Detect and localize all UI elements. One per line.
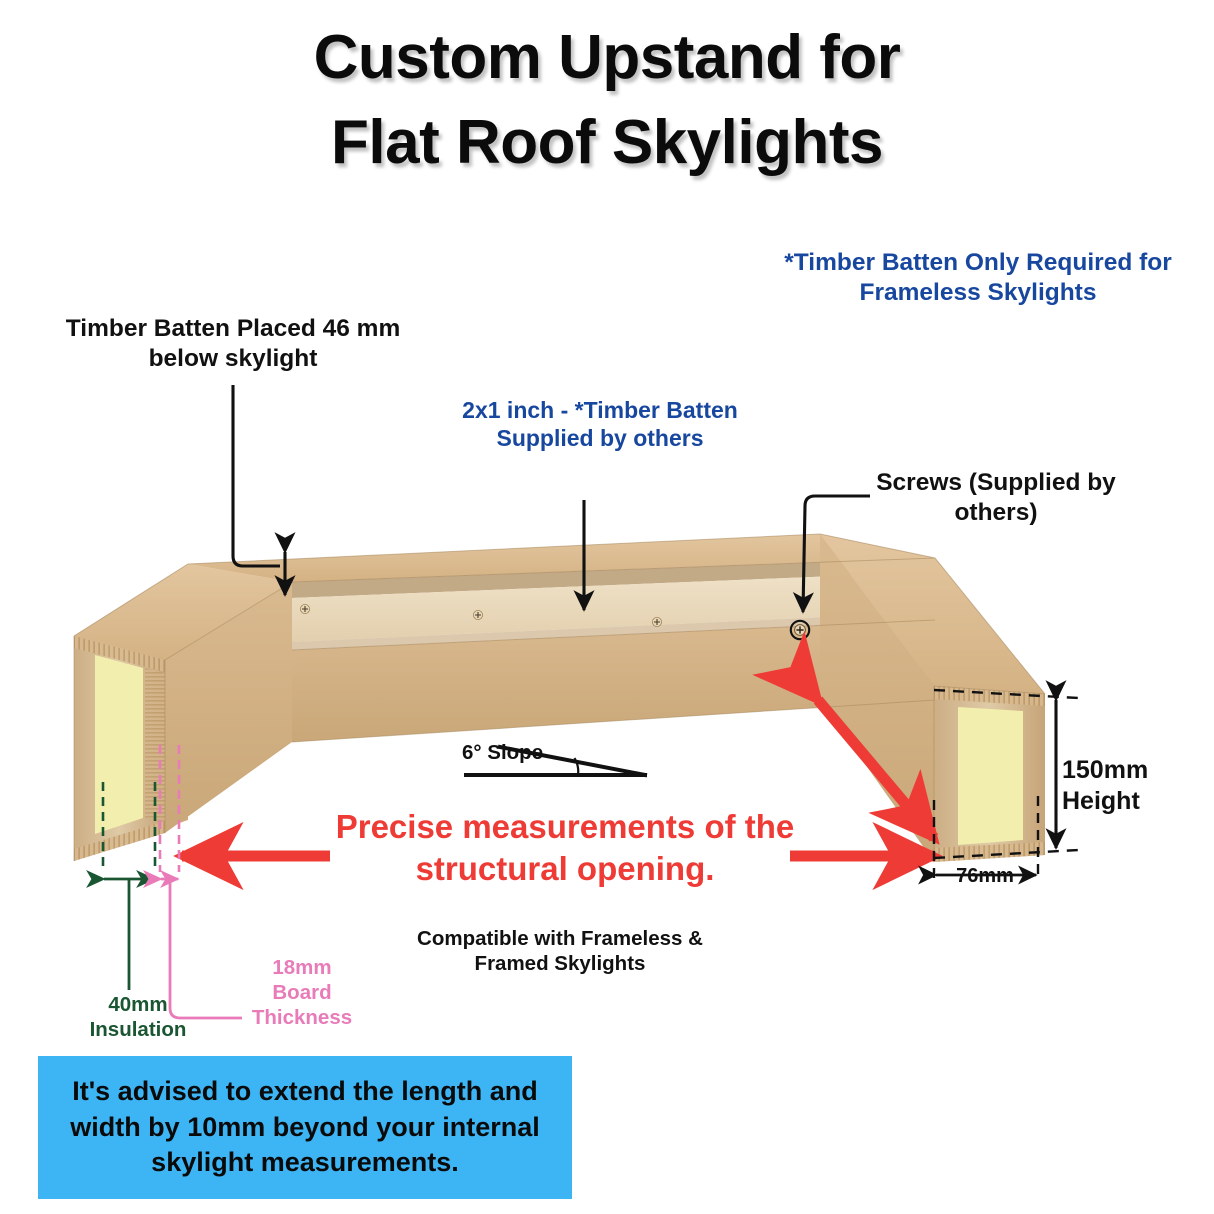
dimension-label-width: 76mm	[945, 864, 1025, 888]
leader-batten-placed	[233, 385, 280, 566]
screw-icon	[300, 604, 309, 613]
dimension-label-board-thickness: 18mm Board Thickness	[248, 955, 356, 1030]
dimension-label-height: 150mm Height	[1062, 755, 1212, 816]
dimension-label-insulation: 40mm Insulation	[78, 992, 198, 1042]
note-compatible-skylights: Compatible with Frameless & Framed Skyli…	[400, 926, 720, 976]
screw-icon	[652, 617, 661, 626]
right-end-insulation-panel	[958, 707, 1023, 845]
note-timber-batten-spec: 2x1 inch - *Timber Batten Supplied by ot…	[455, 396, 745, 452]
advice-callout-box: It's advised to extend the length and wi…	[38, 1056, 572, 1199]
screw-icon	[473, 610, 482, 619]
left-end-insulation-panel	[95, 655, 143, 834]
note-screws: Screws (Supplied by others)	[846, 468, 1146, 528]
advice-callout-text: It's advised to extend the length and wi…	[55, 1074, 555, 1182]
note-timber-batten-placed: Timber Batten Placed 46 mm below skyligh…	[58, 314, 408, 374]
diagram-page: Custom Upstand for Flat Roof Skylights	[0, 0, 1214, 1214]
note-precise-measurements: Precise measurements of the structural o…	[300, 806, 830, 889]
note-frameless-skylights: *Timber Batten Only Required for Framele…	[752, 248, 1204, 308]
label-slope-angle: 6° Slope	[462, 741, 543, 765]
